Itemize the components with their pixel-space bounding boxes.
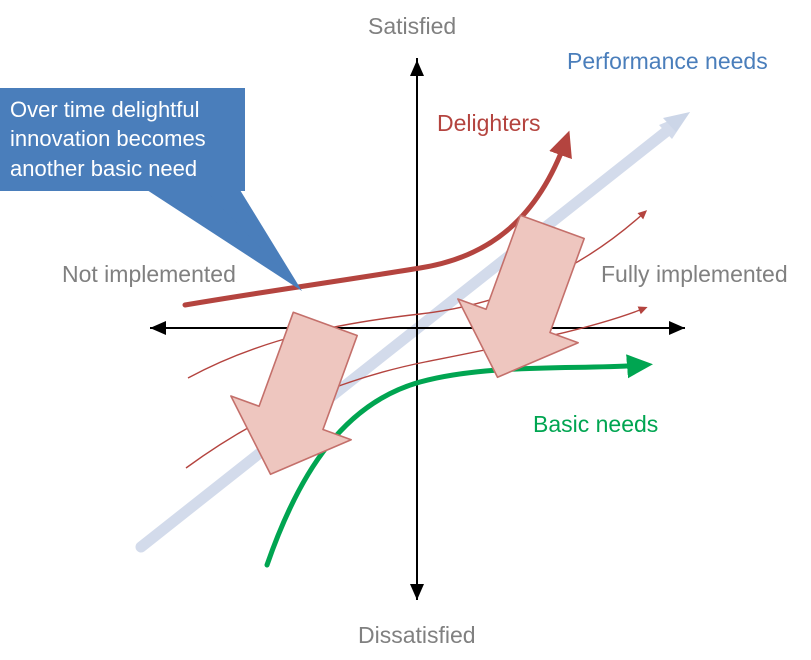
callout-text: Over time delightful innovation becomes … xyxy=(10,95,242,183)
curve-label-basic-needs: Basic needs xyxy=(533,411,658,438)
kano-model-diagram: Over time delightful innovation becomes … xyxy=(0,0,811,660)
axis-label-not-implemented: Not implemented xyxy=(62,261,236,288)
callout-line-1: Over time delightful xyxy=(10,95,242,124)
curve-label-delighters: Delighters xyxy=(437,110,541,137)
axis-label-dissatisfied: Dissatisfied xyxy=(358,622,476,649)
callout-line-3: another basic need xyxy=(10,154,242,183)
callout-line-2: innovation becomes xyxy=(10,124,242,153)
axis-label-satisfied: Satisfied xyxy=(368,13,456,40)
axis-label-fully-implemented: Fully implemented xyxy=(601,261,788,288)
curve-label-performance-needs: Performance needs xyxy=(567,48,768,75)
